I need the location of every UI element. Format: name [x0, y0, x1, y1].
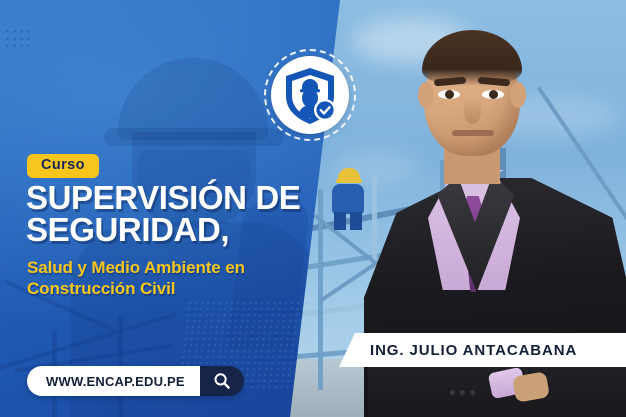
subtitle-line-2: Construcción Civil: [27, 279, 175, 298]
nose: [464, 98, 481, 124]
title-line-2: SEGURIDAD,: [26, 214, 356, 246]
subtitle-line-1: Salud y Medio Ambiente en: [27, 258, 245, 277]
page-title: SUPERVISIÓN DE SEGURIDAD,: [26, 182, 356, 247]
hair: [422, 30, 522, 86]
jacket-button: [450, 390, 455, 395]
website-url-bar[interactable]: WWW.ENCAP.EDU.PE: [27, 366, 244, 396]
instructor-name-banner: ING. JULIO ANTACABANA: [339, 333, 626, 367]
page-subtitle: Salud y Medio Ambiente en Construcción C…: [27, 258, 337, 299]
ear: [510, 82, 526, 108]
instructor-name-text: ING. JULIO ANTACABANA: [370, 342, 577, 359]
mouth: [452, 130, 494, 136]
ear: [418, 82, 434, 108]
pupil: [489, 90, 498, 99]
course-badge: Curso: [27, 154, 99, 178]
jacket-button: [470, 390, 475, 395]
dot-pattern-corner: [4, 28, 30, 50]
search-icon: [213, 372, 231, 390]
course-logo: [264, 49, 356, 141]
search-button[interactable]: [200, 366, 244, 396]
course-promo-banner: Curso SUPERVISIÓN DE SEGURIDAD, Salud y …: [0, 0, 626, 417]
pupil: [445, 90, 454, 99]
website-url-text: WWW.ENCAP.EDU.PE: [27, 366, 200, 396]
jacket-button: [460, 390, 465, 395]
shield-worker-check-icon: [271, 56, 349, 134]
